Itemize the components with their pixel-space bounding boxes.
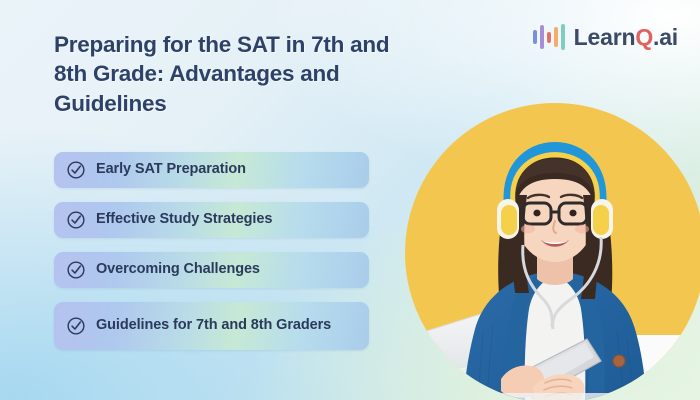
logo-text-learn: Learn: [574, 24, 636, 50]
page-title: Preparing for the SAT in 7th and 8th Gra…: [54, 30, 404, 118]
logo-text-q: Q: [635, 24, 653, 50]
list-item[interactable]: Guidelines for 7th and 8th Graders: [54, 302, 369, 350]
list-item[interactable]: Overcoming Challenges: [54, 252, 369, 288]
list-item-label: Guidelines for 7th and 8th Graders: [96, 317, 331, 334]
check-circle-icon: [66, 260, 86, 280]
brand-logo[interactable]: LearnQ.ai: [533, 22, 678, 52]
student-illustration: [405, 103, 700, 400]
list-item-label: Effective Study Strategies: [96, 211, 272, 228]
list-item-label: Overcoming Challenges: [96, 261, 260, 278]
hero-photo: [405, 103, 700, 400]
check-circle-icon: [66, 210, 86, 230]
list-item[interactable]: Early SAT Preparation: [54, 152, 369, 188]
banner-root: LearnQ.ai Preparing for the SAT in 7th a…: [0, 0, 700, 400]
checklist: Early SAT Preparation Effective Study St…: [54, 152, 369, 350]
brand-logo-text: LearnQ.ai: [574, 26, 678, 49]
list-item-label: Early SAT Preparation: [96, 161, 246, 178]
soundwave-bars-icon: [533, 24, 565, 50]
check-circle-icon: [66, 316, 86, 336]
logo-text-suffix: .ai: [653, 24, 678, 50]
check-circle-icon: [66, 160, 86, 180]
student-photo-clip: [405, 103, 700, 400]
list-item[interactable]: Effective Study Strategies: [54, 202, 369, 238]
